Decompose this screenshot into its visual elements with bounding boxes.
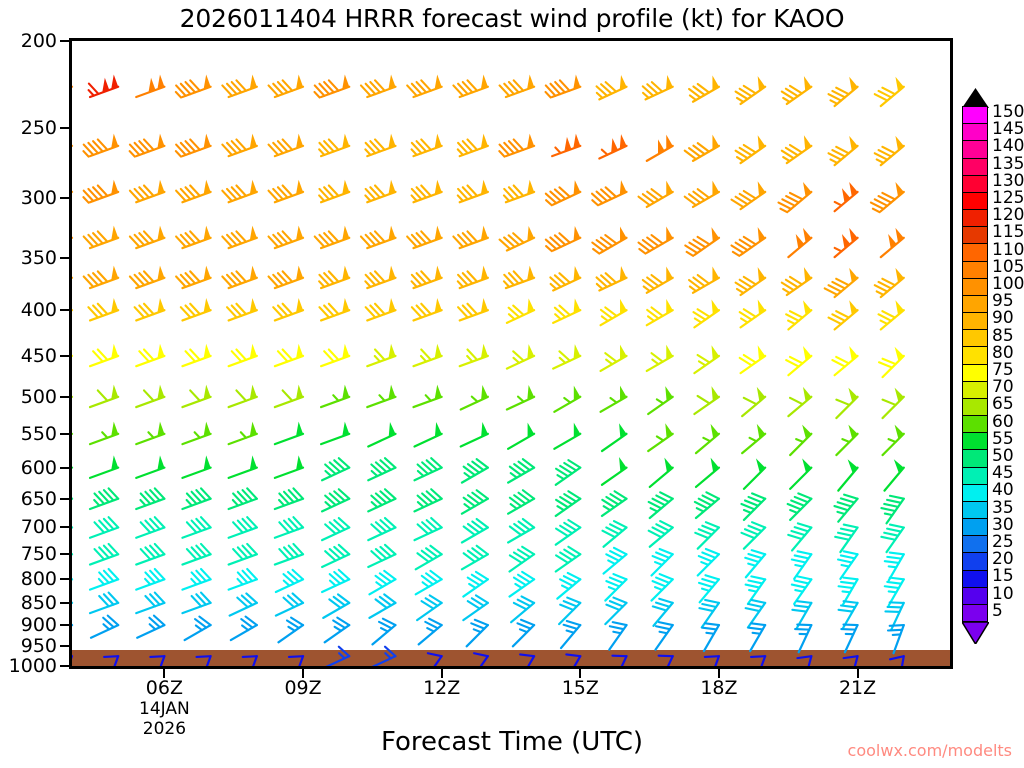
wind-barb xyxy=(556,547,581,572)
wind-barb xyxy=(609,622,626,650)
wind-barb xyxy=(511,596,534,622)
wind-barb xyxy=(413,385,441,407)
wind-barb xyxy=(275,344,303,366)
wind-barb xyxy=(881,525,903,553)
wind-barb xyxy=(871,182,904,212)
y-tick-label: 950 xyxy=(21,635,57,657)
wind-barb xyxy=(744,458,765,488)
date-line-1: 14JAN xyxy=(119,699,209,719)
colorbar-cell xyxy=(963,399,987,416)
wind-barb xyxy=(414,518,441,540)
wind-barb xyxy=(792,551,812,579)
x-tick-mark xyxy=(302,669,304,678)
wind-barb xyxy=(368,422,395,446)
wind-barb xyxy=(136,455,164,477)
wind-barb xyxy=(276,570,303,592)
wind-barb xyxy=(89,75,119,97)
wind-barb xyxy=(652,549,673,576)
wind-barb xyxy=(736,135,766,163)
wind-barb xyxy=(361,226,396,248)
colorbar-cell xyxy=(963,330,987,347)
wind-barb xyxy=(554,386,580,412)
wind-barb xyxy=(83,180,118,203)
y-tick-mark xyxy=(60,602,69,604)
wind-barb xyxy=(322,570,349,592)
wind-barb xyxy=(182,569,210,590)
wind-barb xyxy=(176,75,211,98)
wind-barb xyxy=(835,525,857,553)
wind-barb xyxy=(601,299,627,325)
wind-barb xyxy=(740,345,765,373)
wind-barb xyxy=(599,134,626,158)
y-tick-mark xyxy=(60,665,69,667)
wind-barb xyxy=(176,226,211,248)
wind-barb xyxy=(273,298,303,320)
wind-barb xyxy=(597,266,627,290)
wind-barb xyxy=(462,519,488,543)
wind-barb xyxy=(222,75,257,97)
wind-barb xyxy=(321,344,349,366)
wind-barb xyxy=(361,75,396,97)
wind-barb xyxy=(788,387,811,416)
wind-barb xyxy=(182,593,210,614)
wind-barb xyxy=(513,620,534,647)
colorbar-tick-label: 15 xyxy=(992,568,1014,585)
colorbar-cell xyxy=(963,382,987,399)
wind-barb xyxy=(182,385,210,407)
wind-barb xyxy=(458,180,488,202)
y-tick-mark xyxy=(60,624,69,626)
wind-barb xyxy=(137,616,164,638)
colorbar-cell xyxy=(963,468,987,485)
wind-barb xyxy=(695,492,719,518)
y-tick-label: 200 xyxy=(21,30,57,52)
colorbar-cell xyxy=(963,450,987,467)
wind-barb xyxy=(90,455,118,477)
colorbar-cell xyxy=(963,176,987,193)
wind-barb xyxy=(136,593,164,614)
wind-barb xyxy=(507,298,534,322)
wind-barb xyxy=(836,388,857,418)
colorbar-cell xyxy=(963,347,987,364)
wind-barb xyxy=(222,226,257,248)
wind-barb xyxy=(458,266,488,288)
wind-barb xyxy=(546,226,580,251)
wind-barb xyxy=(699,575,719,602)
wind-barb xyxy=(182,455,210,477)
wind-barb xyxy=(565,654,580,666)
wind-barb xyxy=(275,544,303,565)
wind-barb xyxy=(797,656,811,666)
wind-barb xyxy=(471,653,488,666)
wind-barb xyxy=(322,545,349,567)
colorbar-tick-label: 140 xyxy=(992,138,1024,155)
wind-barb xyxy=(414,458,441,480)
wind-barb xyxy=(90,544,118,565)
colorbar-cell xyxy=(963,159,987,176)
wind-barb xyxy=(424,653,441,666)
wind-barb xyxy=(740,300,765,328)
colorbar-tick-label: 40 xyxy=(992,482,1014,499)
y-tick-label: 500 xyxy=(21,386,57,408)
wind-barb xyxy=(556,491,581,516)
wind-barb xyxy=(841,625,857,653)
wind-barb xyxy=(368,518,395,540)
wind-barb xyxy=(879,300,904,329)
wind-barb xyxy=(508,519,534,543)
wind-barb xyxy=(407,226,442,248)
wind-barb xyxy=(322,458,349,480)
wind-barb xyxy=(367,385,395,407)
wind-barb xyxy=(416,546,442,570)
wind-barb xyxy=(185,617,211,641)
wind-barb xyxy=(176,180,211,202)
wind-barb xyxy=(176,266,211,288)
x-tick-mark xyxy=(857,669,859,678)
x-tick-label: 18Z xyxy=(679,677,759,699)
wind-barb xyxy=(368,647,395,666)
wind-barb xyxy=(592,227,626,254)
colorbar-cell xyxy=(963,485,987,502)
wind-barb xyxy=(881,228,904,257)
wind-barb xyxy=(182,488,210,509)
colorbar-cell xyxy=(963,193,987,210)
wind-barb xyxy=(269,226,304,248)
wind-barb xyxy=(368,545,395,567)
wind-barb xyxy=(597,75,627,99)
wind-barb xyxy=(229,385,257,407)
wind-barb xyxy=(130,226,165,248)
wind-barb xyxy=(689,267,719,293)
wind-barb xyxy=(653,599,673,626)
wind-barb xyxy=(508,423,534,449)
wind-barb xyxy=(552,134,580,156)
colorbar-cell xyxy=(963,279,987,296)
y-tick-mark xyxy=(60,467,69,469)
wind-barb xyxy=(553,344,580,368)
wind-barb xyxy=(885,578,904,606)
wind-barb xyxy=(650,458,673,487)
wind-barb xyxy=(176,134,211,157)
wind-barb xyxy=(136,517,164,538)
wind-barb xyxy=(648,423,673,451)
wind-barb xyxy=(546,75,581,98)
wind-barb xyxy=(649,492,673,518)
wind-barb xyxy=(90,569,118,590)
wind-barb xyxy=(559,598,580,625)
wind-barb xyxy=(639,181,673,207)
wind-barb xyxy=(499,134,534,157)
y-tick-label: 550 xyxy=(21,423,57,445)
y-tick-mark xyxy=(60,645,69,647)
wind-barb xyxy=(275,422,303,444)
wind-barb xyxy=(510,572,535,597)
plot-area xyxy=(69,38,953,669)
wind-barb xyxy=(463,572,488,597)
wind-barb xyxy=(557,573,580,599)
wind-barb xyxy=(227,298,257,320)
wind-barb xyxy=(130,134,165,157)
wind-barb xyxy=(778,182,811,212)
wind-barb xyxy=(319,298,349,320)
wind-barb xyxy=(369,571,395,595)
y-tick-label: 450 xyxy=(21,345,57,367)
wind-barb xyxy=(508,459,534,483)
wind-barb xyxy=(90,593,118,614)
wind-barb xyxy=(694,386,719,414)
colorbar-cell xyxy=(963,107,987,124)
y-tick-label: 800 xyxy=(21,568,57,590)
wind-barb xyxy=(693,300,718,328)
colorbar-top-cap-icon xyxy=(962,88,989,108)
wind-barb xyxy=(556,460,581,485)
y-tick-mark xyxy=(60,257,69,259)
wind-barb xyxy=(829,77,858,106)
wind-barb xyxy=(229,455,257,477)
wind-barb xyxy=(554,423,580,449)
wind-barb xyxy=(875,136,904,165)
wind-barb xyxy=(656,622,673,650)
wind-barb xyxy=(602,423,627,451)
y-tick-label: 700 xyxy=(21,516,57,538)
wind-barb xyxy=(150,656,164,666)
wind-profile-chart: 2026011404 HRRR forecast wind profile (k… xyxy=(0,0,1024,768)
x-tick-label: 21Z xyxy=(818,677,898,699)
wind-barb xyxy=(836,425,857,455)
wind-barb xyxy=(782,267,812,295)
wind-barb xyxy=(561,621,580,648)
wind-barb xyxy=(698,549,719,576)
wind-barb xyxy=(883,388,904,418)
wind-barb xyxy=(602,491,627,516)
colorbar-cell xyxy=(963,262,987,279)
wind-barb xyxy=(648,386,673,414)
wind-barb xyxy=(269,134,304,156)
y-tick-mark xyxy=(60,578,69,580)
y-tick-label: 600 xyxy=(21,457,57,479)
wind-barb xyxy=(879,347,904,377)
wind-barb xyxy=(788,493,812,520)
wind-barb xyxy=(838,459,857,490)
wind-barb xyxy=(321,422,349,444)
wind-barb xyxy=(546,180,580,205)
wind-barb xyxy=(222,180,257,202)
wind-barb xyxy=(825,268,858,297)
wind-barb xyxy=(731,227,765,256)
wind-barb xyxy=(90,517,118,538)
wind-barb xyxy=(136,344,164,366)
y-tick-label: 850 xyxy=(21,592,57,614)
wind-barb xyxy=(136,488,164,509)
wind-barb xyxy=(367,344,395,366)
wind-barb xyxy=(647,299,673,325)
wind-barb xyxy=(229,422,257,444)
wind-barb xyxy=(790,425,811,455)
y-tick-label: 250 xyxy=(21,117,57,139)
wind-barb xyxy=(875,77,904,106)
colorbar-cell xyxy=(963,536,987,553)
x-tick-mark xyxy=(718,669,720,678)
wind-barb xyxy=(504,266,534,288)
wind-barb xyxy=(372,619,395,645)
wind-barb xyxy=(365,180,395,202)
wind-barb xyxy=(414,422,441,446)
wind-barb xyxy=(602,457,627,485)
colorbar-cell xyxy=(963,553,987,570)
wind-barb xyxy=(90,385,118,407)
wind-barb xyxy=(197,656,211,666)
wind-barb xyxy=(556,520,581,545)
y-tick-label: 400 xyxy=(21,299,57,321)
wind-barb xyxy=(136,385,164,407)
colorbar-cell xyxy=(963,416,987,433)
wind-barb xyxy=(463,595,488,620)
colorbar-cell xyxy=(963,296,987,313)
y-tick-mark xyxy=(60,553,69,555)
wind-barb xyxy=(229,544,257,565)
wind-barb xyxy=(275,455,303,477)
credit-text: coolwx.com/modelts xyxy=(848,741,1012,760)
wind-barb xyxy=(91,616,118,638)
wind-barb xyxy=(782,76,812,104)
wind-barb xyxy=(881,496,903,524)
wind-barb xyxy=(412,134,442,156)
colorbar-cell xyxy=(963,605,987,621)
wind-barb xyxy=(829,136,858,165)
y-tick-mark xyxy=(60,355,69,357)
y-tick-label: 650 xyxy=(21,488,57,510)
wind-barb xyxy=(130,266,165,288)
wind-barb xyxy=(222,134,257,156)
y-tick-mark xyxy=(60,309,69,311)
wind-barb xyxy=(835,182,858,211)
wind-barb xyxy=(507,385,534,409)
wind-barb xyxy=(647,345,673,371)
x-tick-mark xyxy=(441,669,443,678)
wind-barb xyxy=(458,298,488,320)
x-tick-label: 12Z xyxy=(402,677,482,699)
wind-barb xyxy=(875,268,904,297)
wind-barb xyxy=(745,550,765,577)
colorbar-cell xyxy=(963,210,987,227)
wind-barb xyxy=(222,266,257,288)
wind-barb xyxy=(782,135,812,163)
wind-barb xyxy=(696,424,719,453)
wind-barb xyxy=(136,75,164,97)
colorbar-cell xyxy=(963,365,987,382)
wind-barb xyxy=(88,298,118,320)
x-tick-label: 09Z xyxy=(263,677,343,699)
wind-barb xyxy=(229,569,257,590)
wind-barb xyxy=(786,300,811,329)
wind-barb xyxy=(741,522,765,549)
colorbar-cell xyxy=(963,571,987,588)
x-tick-label: 06Z xyxy=(124,677,204,699)
wind-barb xyxy=(507,344,534,368)
wind-barb xyxy=(182,422,210,444)
x-tick-label: 15Z xyxy=(540,677,620,699)
wind-barb xyxy=(736,267,766,295)
wind-barb xyxy=(136,569,164,590)
wind-barb xyxy=(412,266,442,288)
wind-barb xyxy=(453,75,488,97)
y-tick-mark xyxy=(60,526,69,528)
wind-barb xyxy=(417,595,442,620)
wind-barb xyxy=(83,134,118,157)
wind-barb xyxy=(322,489,349,511)
wind-barb xyxy=(553,298,580,322)
wind-barb xyxy=(695,522,719,549)
wind-barb xyxy=(786,346,811,375)
wind-barb xyxy=(612,656,626,666)
wind-barb xyxy=(790,458,811,488)
wind-barb xyxy=(788,523,811,550)
colorbar-cell xyxy=(963,124,987,141)
wind-barb-layer xyxy=(72,41,950,666)
y-tick-mark xyxy=(60,498,69,500)
wind-barb xyxy=(504,180,534,202)
wind-barb xyxy=(705,656,719,666)
wind-barb xyxy=(276,593,303,615)
wind-barb xyxy=(647,135,673,161)
y-tick-mark xyxy=(60,433,69,435)
wind-barb xyxy=(462,459,488,483)
wind-barb xyxy=(751,656,765,666)
wind-barb xyxy=(365,134,395,156)
wind-barb xyxy=(269,180,304,202)
wind-barb xyxy=(413,344,441,366)
y-tick-label: 900 xyxy=(21,614,57,636)
wind-barb xyxy=(278,618,303,643)
wind-barb xyxy=(319,180,349,202)
y-tick-mark xyxy=(60,396,69,398)
wind-barb xyxy=(230,593,257,615)
wind-barb xyxy=(605,598,626,625)
wind-barb xyxy=(659,656,673,666)
colorbar-tick-label: 5 xyxy=(992,603,1003,620)
wind-barb xyxy=(742,387,765,416)
wind-barb xyxy=(419,619,442,645)
wind-barb xyxy=(510,547,535,572)
wind-barb xyxy=(319,266,349,288)
colorbar-bottom-cap-icon xyxy=(962,622,989,644)
wind-barb xyxy=(231,617,257,641)
wind-barb xyxy=(834,495,857,522)
colorbar-cell xyxy=(963,588,987,605)
wind-barb xyxy=(838,551,858,579)
wind-barb xyxy=(412,180,442,202)
wind-barb xyxy=(325,618,350,643)
wind-barb xyxy=(368,489,395,511)
wind-barb xyxy=(275,488,303,509)
wind-barb xyxy=(731,181,765,209)
wind-barb xyxy=(243,656,257,666)
colorbar-cell xyxy=(963,313,987,330)
wind-barb xyxy=(365,266,395,288)
wind-barb xyxy=(741,493,765,520)
wind-barb xyxy=(500,75,535,97)
wind-barb xyxy=(229,488,257,509)
wind-barb xyxy=(844,656,858,666)
y-tick-mark xyxy=(60,197,69,199)
wind-barb xyxy=(694,345,719,373)
wind-barb xyxy=(467,620,488,647)
wind-barb xyxy=(601,386,627,412)
wind-barb xyxy=(368,458,395,480)
colorbar-tick-label: 115 xyxy=(992,224,1024,241)
wind-barb xyxy=(685,181,719,207)
wind-barb xyxy=(885,459,904,490)
